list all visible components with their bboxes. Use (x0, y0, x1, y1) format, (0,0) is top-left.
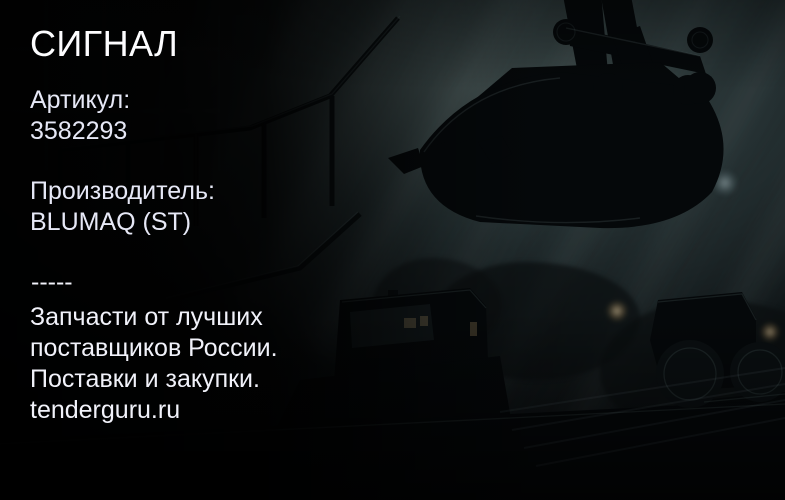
separator-dashes: ----- (31, 268, 73, 296)
field-manufacturer-value: BLUMAQ (ST) (30, 207, 215, 238)
promo-block: Запчасти от лучших поставщиков России. П… (30, 302, 278, 426)
field-article-label: Артикул: (30, 86, 130, 114)
field-article-value: 3582293 (30, 116, 130, 147)
promo-line-2: поставщиков России. (30, 333, 278, 364)
card-text-content: СИГНАЛ Артикул: 3582293 Производитель: B… (30, 0, 550, 500)
promo-line-3: Поставки и закупки. (30, 364, 278, 395)
field-manufacturer-label: Производитель: (30, 177, 215, 205)
product-card: СИГНАЛ Артикул: 3582293 Производитель: B… (0, 0, 785, 500)
field-article: Артикул: 3582293 (30, 85, 130, 147)
product-title: СИГНАЛ (30, 26, 178, 62)
promo-website-url: tenderguru.ru (30, 395, 278, 426)
promo-line-1: Запчасти от лучших (30, 302, 278, 333)
field-manufacturer: Производитель: BLUMAQ (ST) (30, 176, 215, 238)
